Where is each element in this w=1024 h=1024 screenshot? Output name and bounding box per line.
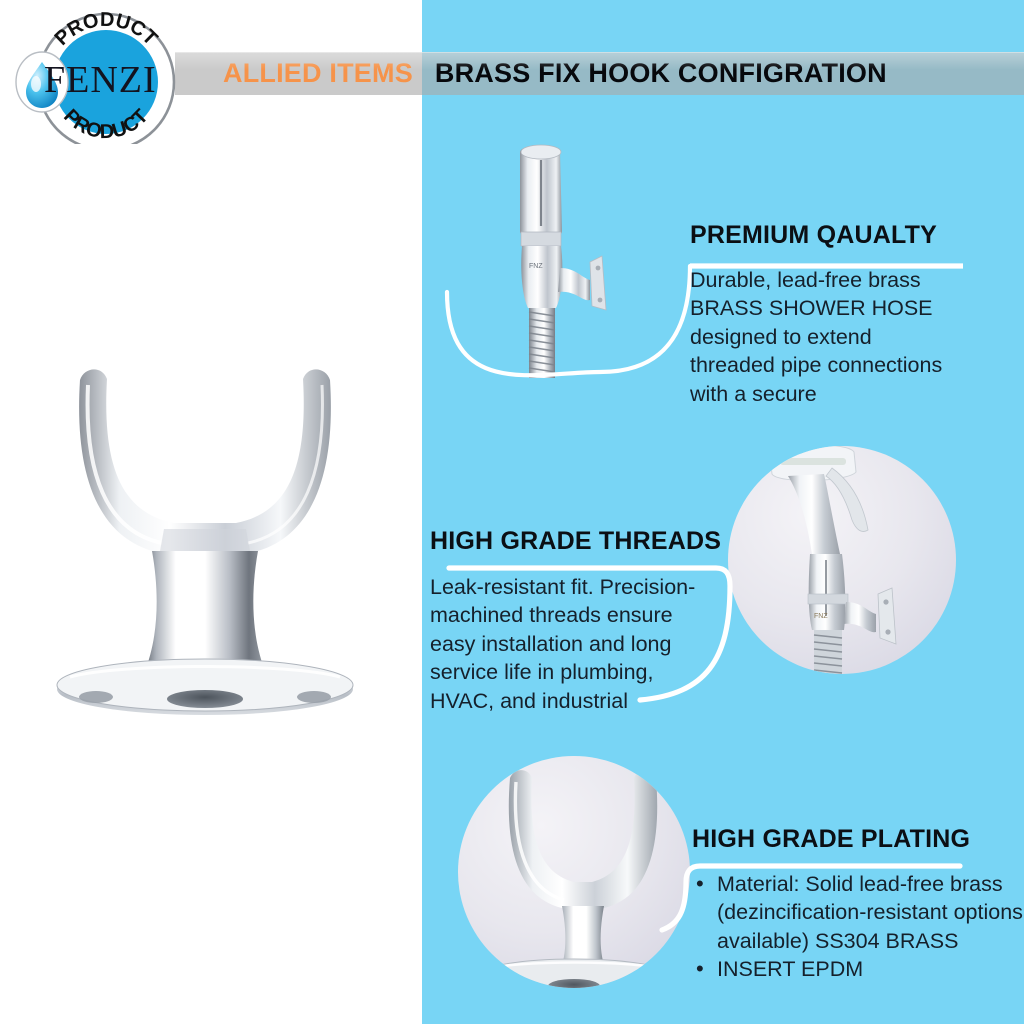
feature-2-line: Leak-resistant fit. Precision- xyxy=(430,573,730,602)
feature-2-body: Leak-resistant fit. Precision- machined … xyxy=(430,573,730,716)
hook-closeup-illustration xyxy=(458,756,690,988)
main-product-image xyxy=(40,355,370,730)
bidet-spray-photo: FNZ xyxy=(728,446,956,674)
feature-block-high-grade-plating: HIGH GRADE PLATING Material: Solid lead-… xyxy=(692,826,1024,984)
feature-1-heading: PREMIUM QAUALTY xyxy=(690,222,1024,250)
bidet-spray-illustration: FNZ xyxy=(728,446,956,674)
feature-3-bullet-list: Material: Solid lead-free brass (dezinci… xyxy=(692,870,1024,984)
hook-closeup-photo xyxy=(458,756,690,988)
feature-block-premium-quality: PREMIUM QAUALTY Durable, lead-free brass… xyxy=(690,222,1024,408)
feature-2-heading: HIGH GRADE THREADS xyxy=(430,528,730,556)
feature-2-line: service life in plumbing, xyxy=(430,658,730,687)
list-item: Material: Solid lead-free brass (dezinci… xyxy=(692,870,1024,956)
feature-2-line: easy installation and long xyxy=(430,630,730,659)
infographic-canvas: FNZ xyxy=(0,0,1024,1024)
svg-text:FNZ: FNZ xyxy=(814,613,828,620)
svg-text:FNZ: FNZ xyxy=(529,263,543,270)
feature-3-heading: HIGH GRADE PLATING xyxy=(692,826,1024,854)
feature-block-high-grade-threads: HIGH GRADE THREADS Leak-resistant fit. P… xyxy=(430,528,730,715)
feature-1-body: Durable, lead-free brass BRASS SHOWER HO… xyxy=(690,266,1024,409)
header-banner: ALLIED ITEMS BRASS FIX HOOK CONFIGRATION xyxy=(175,52,1024,95)
allied-items-label: ALLIED ITEMS xyxy=(223,58,413,89)
angle-valve-image: FNZ xyxy=(498,140,638,380)
logo-wordmark: FENZI xyxy=(44,59,157,101)
page-title: BRASS FIX HOOK CONFIGRATION xyxy=(435,58,887,89)
feature-2-line: HVAC, and industrial xyxy=(430,687,730,716)
feature-1-line: with a secure xyxy=(690,380,1024,409)
feature-1-line: threaded pipe connections xyxy=(690,351,1024,380)
feature-1-line: BRASS SHOWER HOSE xyxy=(690,294,1024,323)
feature-2-line: machined threads ensure xyxy=(430,601,730,630)
feature-1-line: designed to extend xyxy=(690,323,1024,352)
list-item: INSERT EPDM xyxy=(692,955,1024,984)
feature-1-line: Durable, lead-free brass xyxy=(690,266,1024,295)
